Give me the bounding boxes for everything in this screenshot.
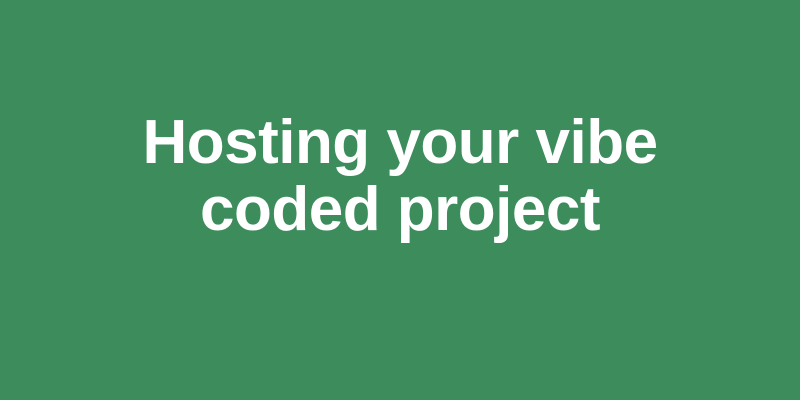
headline-line-1: Hosting your vibe: [40, 109, 760, 176]
headline-block: Hosting your vibe coded project: [0, 109, 800, 243]
headline-line-2: coded project: [40, 176, 760, 243]
banner: Hosting your vibe coded project: [0, 0, 800, 400]
